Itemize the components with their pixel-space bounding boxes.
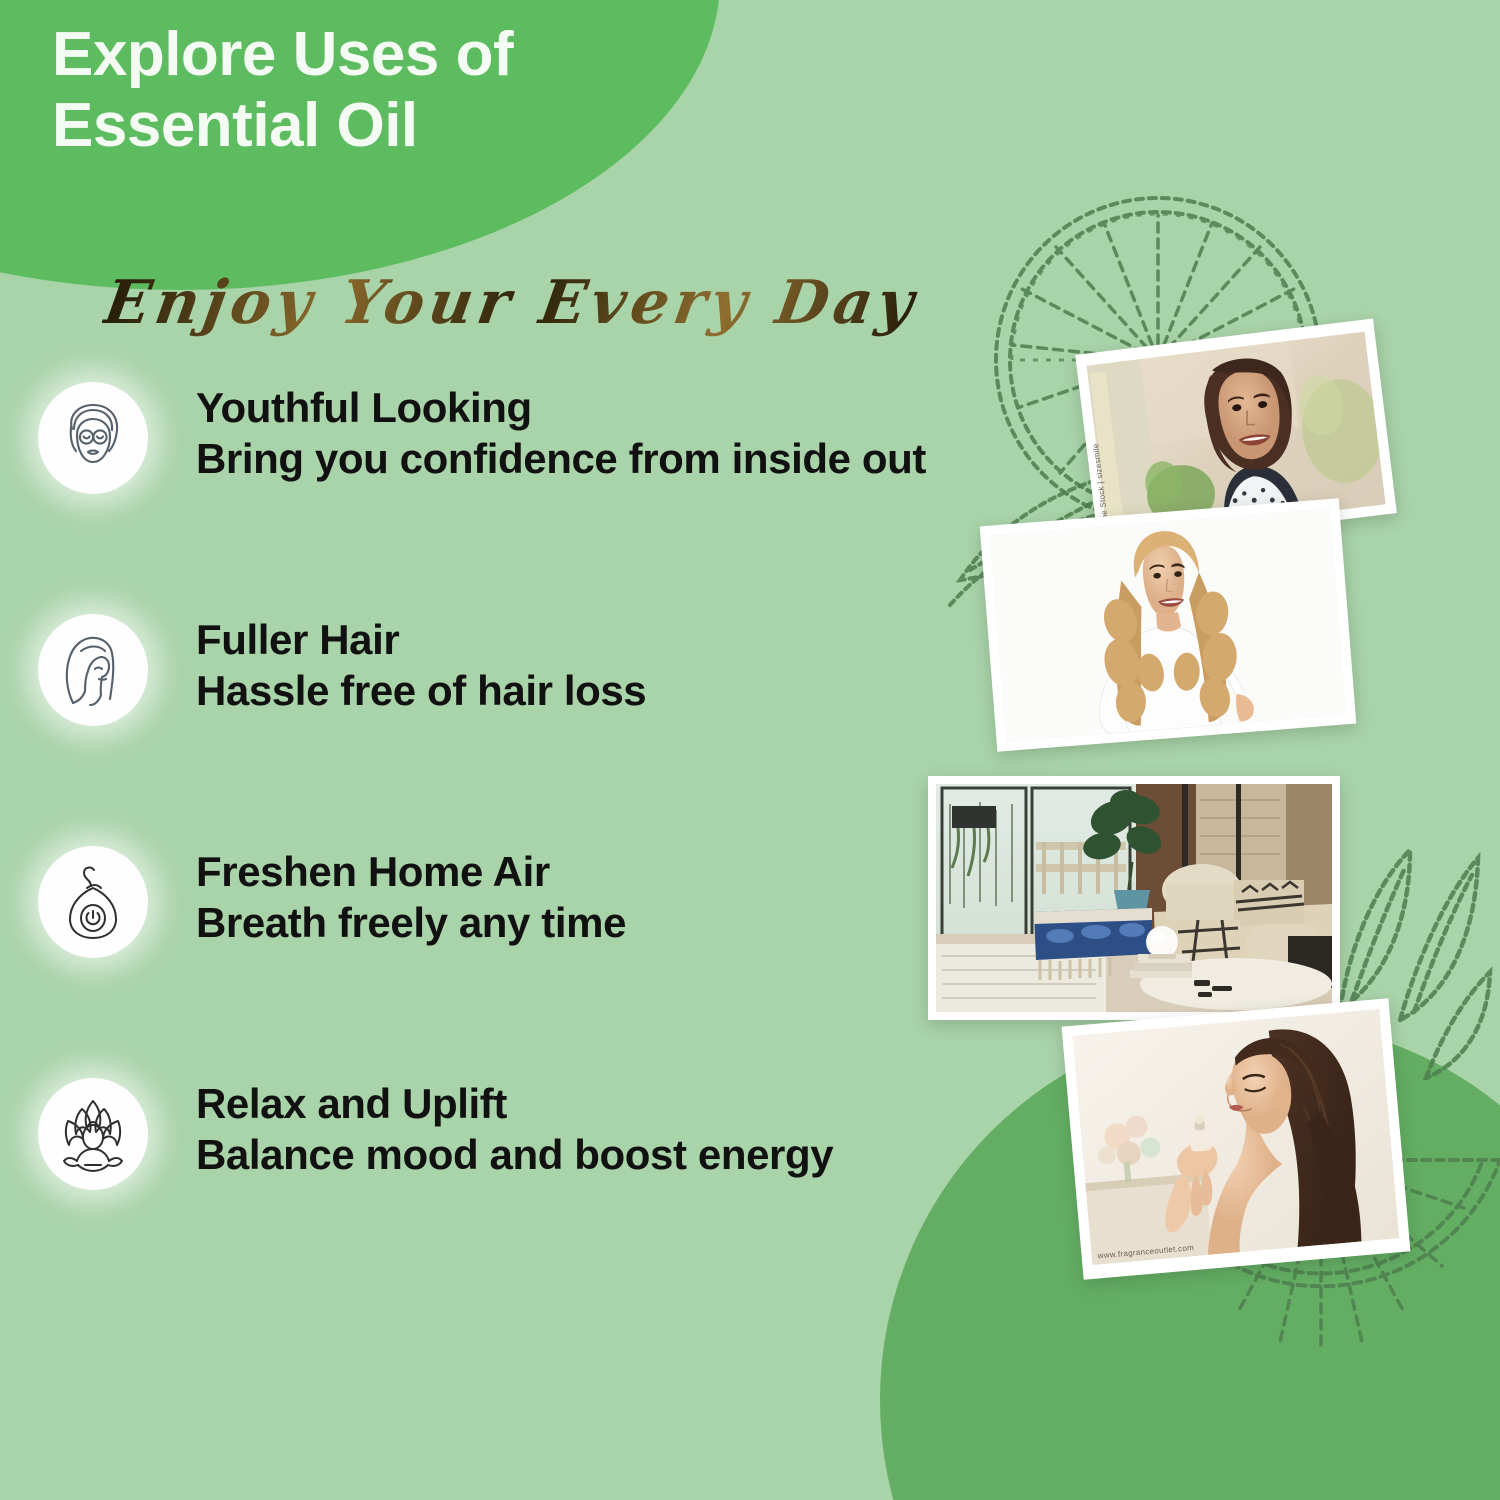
feature-title: Relax and Uplift [196,1080,833,1127]
feature-text-block: Youthful Looking Bring you confidence fr… [196,384,926,482]
boho-living-room-photo [928,776,1340,1020]
feature-subtitle: Balance mood and boost energy [196,1131,833,1178]
face-mask-icon [38,382,148,494]
lotus-meditation-icon [38,1078,148,1190]
feature-subtitle: Breath freely any time [196,899,626,946]
long-hair-profile-icon [38,614,148,726]
feature-item-youthful-looking: Youthful Looking Bring you confidence fr… [0,372,1040,604]
feature-title: Fuller Hair [196,616,646,663]
feature-title: Freshen Home Air [196,848,626,895]
feature-subtitle: Hassle free of hair loss [196,667,646,714]
feature-subtitle: Bring you confidence from inside out [196,435,926,482]
feature-item-freshen-home-air: Freshen Home Air Breath freely any time [0,836,1040,1068]
feature-text-block: Freshen Home Air Breath freely any time [196,848,626,946]
feature-title: Youthful Looking [196,384,926,431]
feature-item-relax-and-uplift: Relax and Uplift Balance mood and boost … [0,1068,1040,1300]
aroma-diffuser-icon [38,846,148,958]
photo-image [989,508,1346,742]
feature-list: Youthful Looking Bring you confidence fr… [0,372,1040,1300]
essential-oil-infographic: Explore Uses of Essential Oil Enjoy Your… [0,0,1500,1500]
feature-text-block: Fuller Hair Hassle free of hair loss [196,616,646,714]
tagline: Enjoy Your Every Day [99,268,923,338]
page-title: Explore Uses of Essential Oil [52,20,513,161]
photo-image [1072,1009,1399,1265]
woman-applying-perfume-photo: www.fragranceoutlet.com [1062,998,1411,1280]
feature-text-block: Relax and Uplift Balance mood and boost … [196,1080,833,1178]
wavy-blonde-hair-photo [980,498,1357,752]
feature-item-fuller-hair: Fuller Hair Hassle free of hair loss [0,604,1040,836]
photo-image [936,784,1332,1012]
